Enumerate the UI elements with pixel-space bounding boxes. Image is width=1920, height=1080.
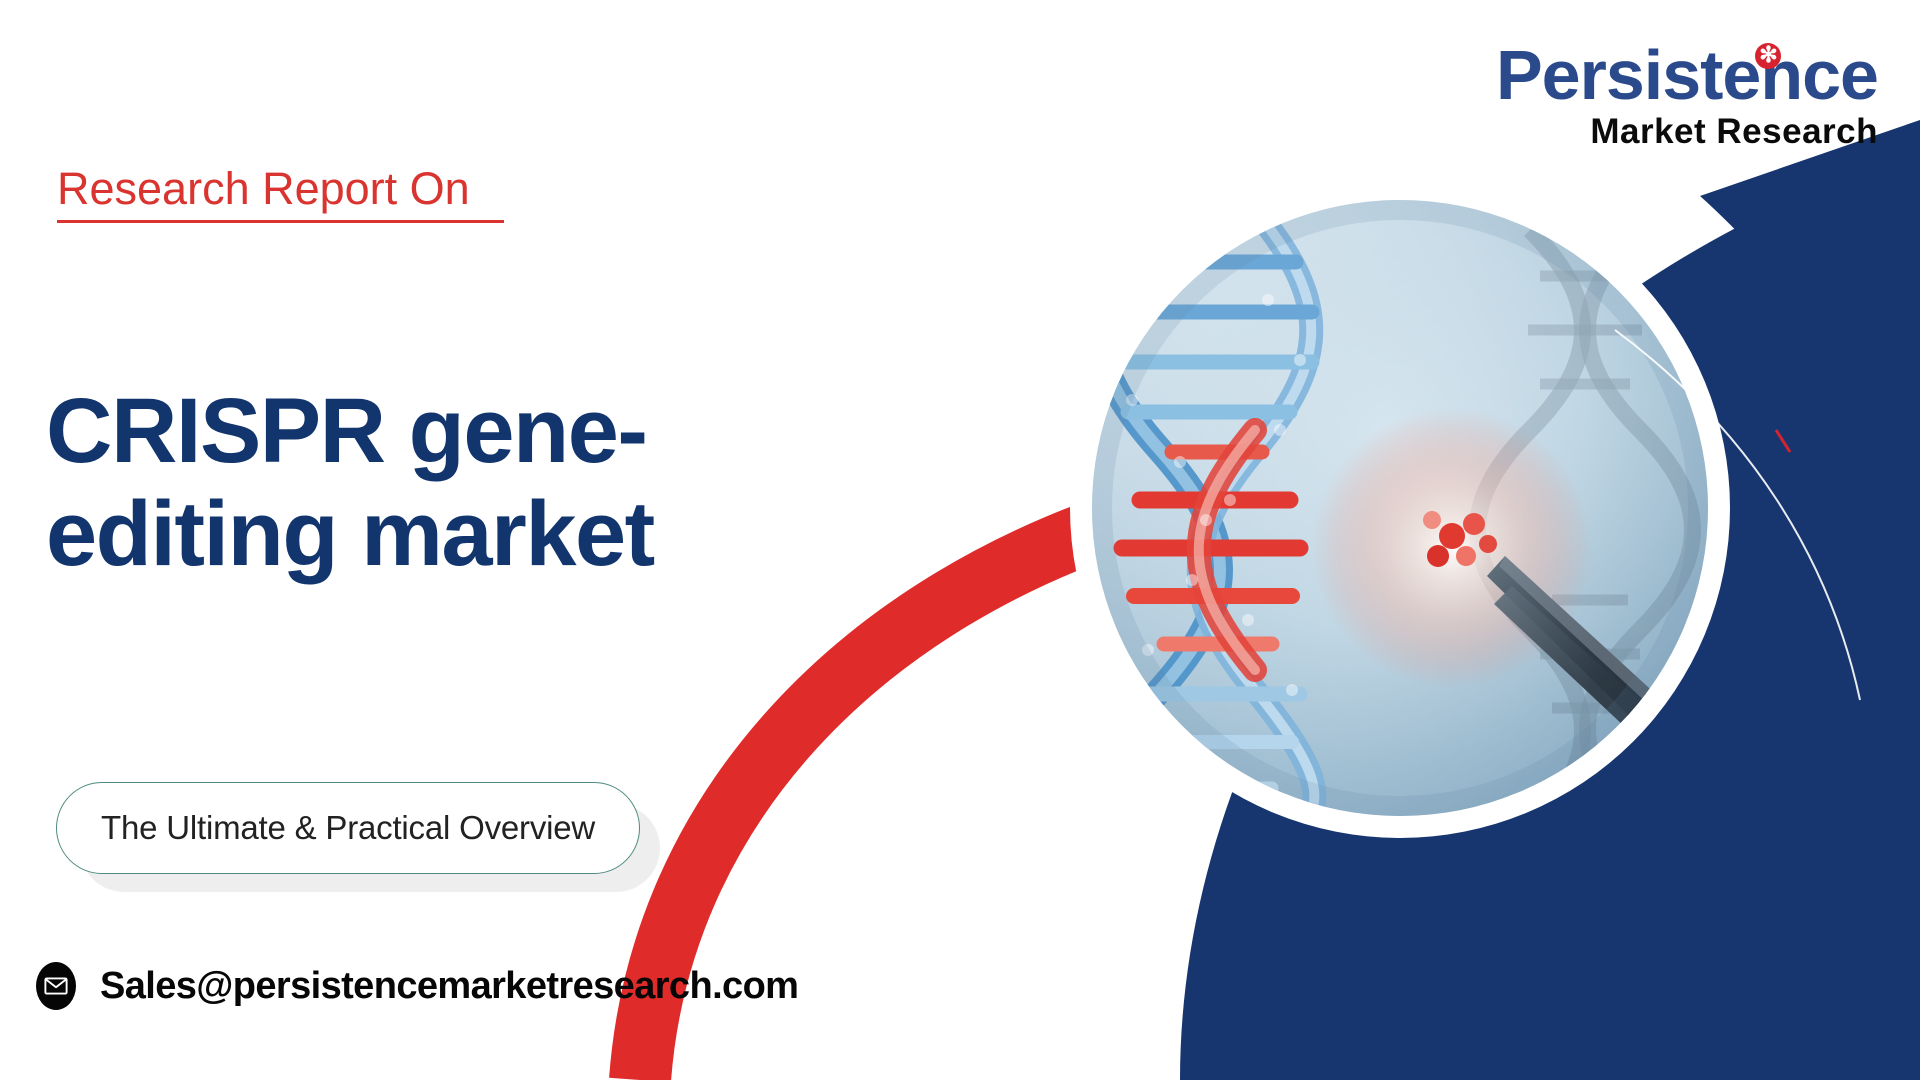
envelope-icon bbox=[36, 962, 76, 1010]
hairline-arc bbox=[1615, 330, 1860, 700]
photo-ring bbox=[1070, 178, 1730, 838]
helix-rungs-lower bbox=[1118, 694, 1300, 788]
contact-email-row[interactable]: Sales@persistencemarketresearch.com bbox=[36, 962, 798, 1010]
brand-name: Persistence bbox=[1496, 36, 1878, 114]
eyebrow-label: Research Report On bbox=[57, 163, 504, 223]
brand-wordmark: Persistence ✻ bbox=[1496, 40, 1878, 110]
helix-bead-texture bbox=[1102, 273, 1306, 712]
dna-photo bbox=[1092, 200, 1712, 830]
banner-canvas: Persistence ✻ Market Research Research R… bbox=[0, 0, 1920, 1080]
brand-logo[interactable]: Persistence ✻ Market Research bbox=[1338, 40, 1878, 149]
eyebrow-underline bbox=[57, 220, 504, 223]
subtitle-pill[interactable]: The Ultimate & Practical Overview bbox=[56, 782, 640, 874]
white-arc-separator bbox=[735, 566, 1210, 1080]
helix-rungs-red bbox=[1122, 452, 1300, 644]
navy-wedge-right bbox=[1180, 150, 1920, 1080]
edit-glow bbox=[1312, 408, 1592, 688]
navy-wedge-top bbox=[1700, 120, 1920, 470]
page-title: CRISPR gene- editing market bbox=[46, 380, 846, 586]
subtitle-pill-label: The Ultimate & Practical Overview bbox=[101, 809, 595, 847]
page-title-line-1: CRISPR gene- bbox=[46, 380, 846, 483]
asterisk-icon: ✻ bbox=[1755, 43, 1781, 69]
extracted-gene-fragment bbox=[1423, 511, 1497, 567]
tweezers bbox=[1487, 556, 1712, 790]
helix-rungs-blue bbox=[1104, 262, 1312, 412]
brand-tagline: Market Research bbox=[1338, 114, 1878, 149]
hairline-accent-tick bbox=[1776, 430, 1790, 452]
helix-strand-blue bbox=[1099, 210, 1315, 830]
page-title-line-2: editing market bbox=[46, 483, 846, 586]
eyebrow-text: Research Report On bbox=[57, 163, 470, 214]
contact-email-address[interactable]: Sales@persistencemarketresearch.com bbox=[100, 965, 798, 1008]
